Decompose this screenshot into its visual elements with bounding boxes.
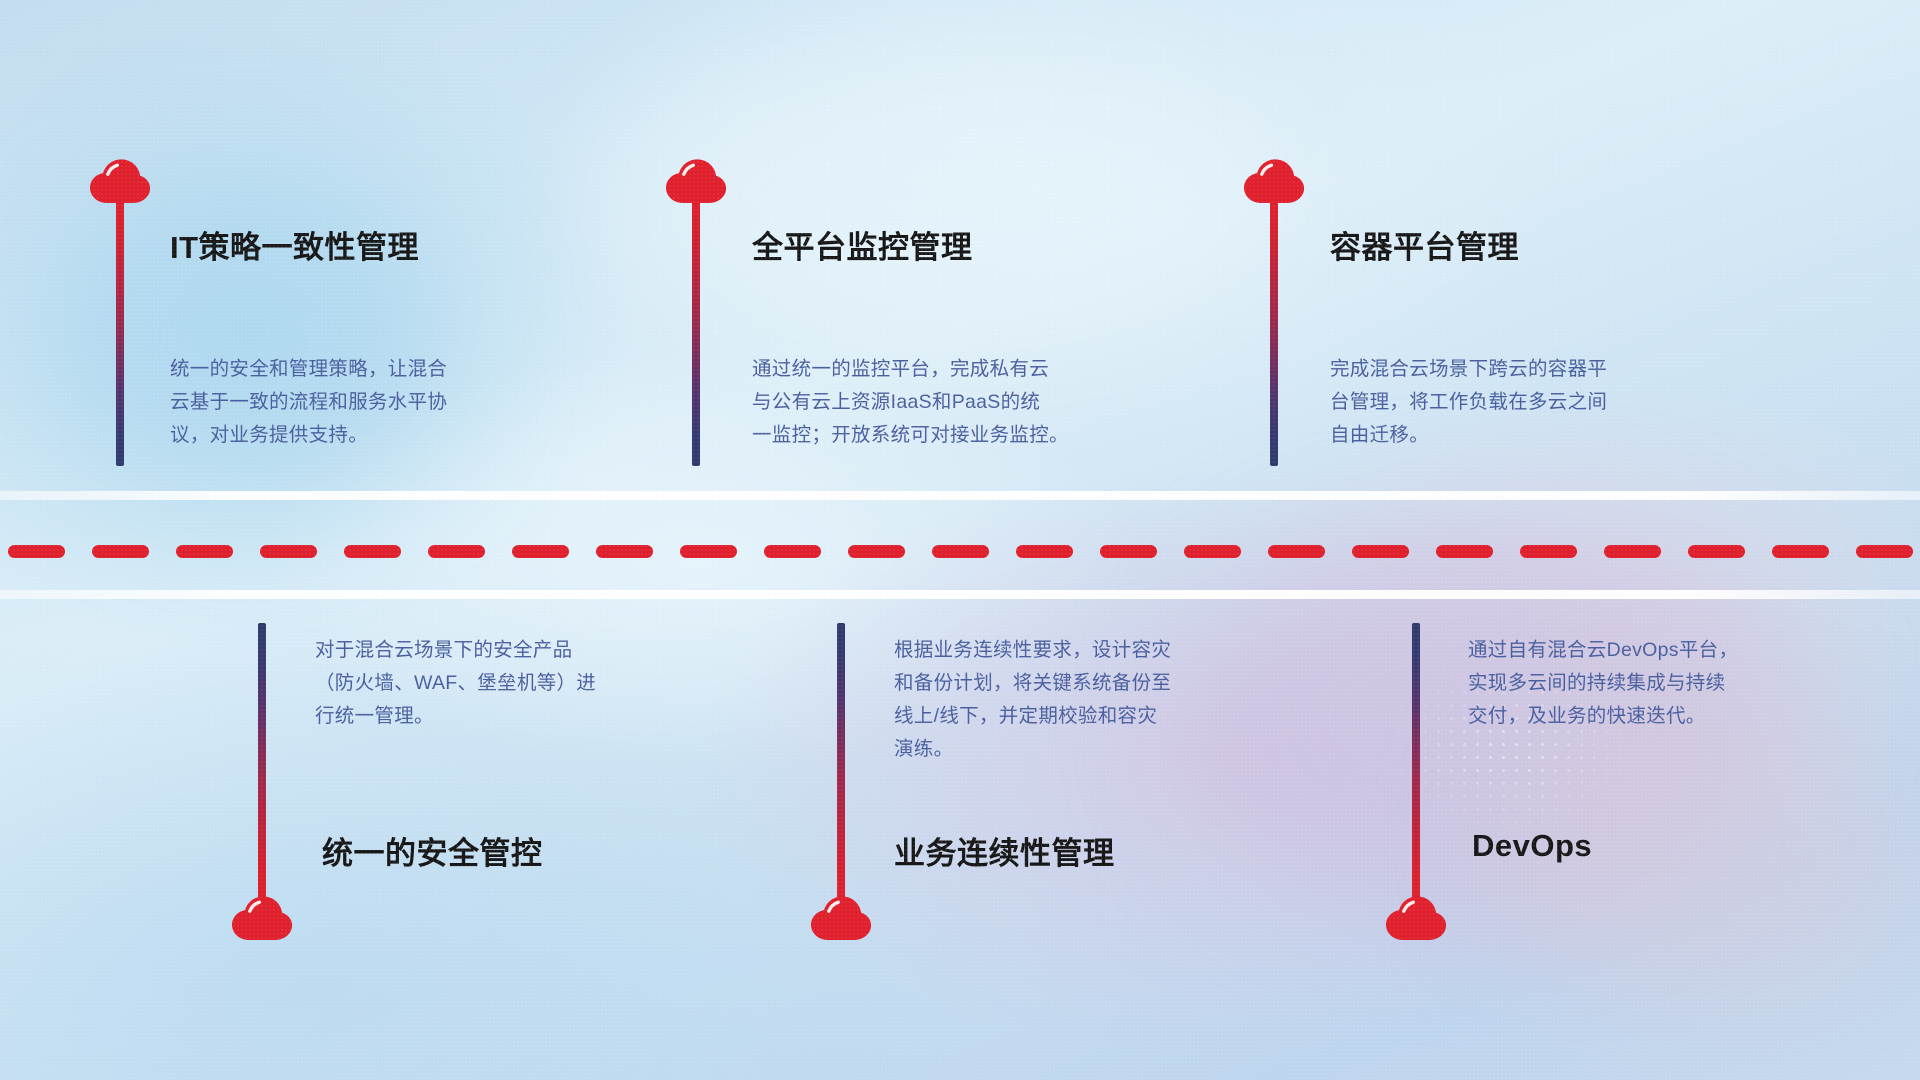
- body-line: 行统一管理。: [315, 700, 745, 733]
- card-heading: 统一的安全管控: [322, 828, 543, 873]
- divider-dashed-line: [0, 545, 1920, 558]
- dash-segment: [176, 545, 233, 558]
- body-line: 交付，及业务的快速迭代。: [1468, 700, 1888, 733]
- card-heading: 容器平台管理: [1330, 222, 1519, 267]
- card-heading: IT策略一致性管理: [170, 222, 419, 267]
- card-heading: 全平台监控管理: [752, 222, 973, 267]
- dash-segment: [1016, 545, 1073, 558]
- cloud-icon: [1385, 895, 1447, 941]
- connector-stem: [1412, 623, 1420, 903]
- dash-segment: [1268, 545, 1325, 558]
- body-line: 云基于一致的流程和服务水平协: [170, 386, 590, 419]
- dash-segment: [680, 545, 737, 558]
- body-line: 线上/线下，并定期校验和容灾: [894, 700, 1324, 733]
- card-heading: 业务连续性管理: [894, 828, 1115, 873]
- card-body: 对于混合云场景下的安全产品 （防火墙、WAF、堡垒机等）进 行统一管理。: [315, 634, 745, 733]
- dash-segment: [512, 545, 569, 558]
- body-line: 通过统一的监控平台，完成私有云: [752, 353, 1192, 386]
- dash-segment: [1604, 545, 1661, 558]
- dash-segment: [596, 545, 653, 558]
- body-line: 对于混合云场景下的安全产品: [315, 634, 745, 667]
- card-body: 完成混合云场景下跨云的容器平 台管理，将工作负载在多云之间 自由迁移。: [1330, 353, 1750, 452]
- dash-segment: [932, 545, 989, 558]
- body-line: 统一的安全和管理策略，让混合: [170, 353, 590, 386]
- card-body: 根据业务连续性要求，设计容灾 和备份计划，将关键系统备份至 线上/线下，并定期校…: [894, 634, 1324, 766]
- dash-segment: [92, 545, 149, 558]
- body-line: 完成混合云场景下跨云的容器平: [1330, 353, 1750, 386]
- dash-segment: [848, 545, 905, 558]
- dash-segment: [428, 545, 485, 558]
- card-body: 通过自有混合云DevOps平台， 实现多云间的持续集成与持续 交付，及业务的快速…: [1468, 634, 1888, 733]
- divider-rule-lower: [0, 590, 1920, 599]
- card-body: 统一的安全和管理策略，让混合 云基于一致的流程和服务水平协 议，对业务提供支持。: [170, 353, 590, 452]
- connector-stem: [116, 198, 124, 466]
- body-line: 与公有云上资源IaaS和PaaS的统: [752, 386, 1192, 419]
- dash-segment: [8, 545, 65, 558]
- infographic-canvas: IT策略一致性管理 统一的安全和管理策略，让混合 云基于一致的流程和服务水平协 …: [0, 0, 1920, 1080]
- body-line: 一监控；开放系统可对接业务监控。: [752, 419, 1192, 452]
- cloud-icon: [231, 895, 293, 941]
- connector-stem: [837, 623, 845, 903]
- connector-stem: [1270, 198, 1278, 466]
- body-line: 通过自有混合云DevOps平台，: [1468, 634, 1888, 667]
- body-line: 和备份计划，将关键系统备份至: [894, 667, 1324, 700]
- body-line: （防火墙、WAF、堡垒机等）进: [315, 667, 745, 700]
- dash-segment: [1352, 545, 1409, 558]
- dash-segment: [344, 545, 401, 558]
- dash-segment: [1436, 545, 1493, 558]
- dash-segment: [1688, 545, 1745, 558]
- body-line: 根据业务连续性要求，设计容灾: [894, 634, 1324, 667]
- connector-stem: [258, 623, 266, 903]
- card-body: 通过统一的监控平台，完成私有云 与公有云上资源IaaS和PaaS的统 一监控；开…: [752, 353, 1192, 452]
- dash-segment: [260, 545, 317, 558]
- cloud-icon: [810, 895, 872, 941]
- dash-segment: [1520, 545, 1577, 558]
- body-line: 议，对业务提供支持。: [170, 419, 590, 452]
- body-line: 自由迁移。: [1330, 419, 1750, 452]
- body-line: 台管理，将工作负载在多云之间: [1330, 386, 1750, 419]
- dash-segment: [1184, 545, 1241, 558]
- connector-stem: [692, 198, 700, 466]
- body-line: 实现多云间的持续集成与持续: [1468, 667, 1888, 700]
- dash-segment: [1856, 545, 1913, 558]
- dash-segment: [1100, 545, 1157, 558]
- body-line: 演练。: [894, 733, 1324, 766]
- dash-segment: [764, 545, 821, 558]
- divider-rule-upper: [0, 491, 1920, 500]
- dash-segment: [1772, 545, 1829, 558]
- card-heading: DevOps: [1472, 828, 1592, 864]
